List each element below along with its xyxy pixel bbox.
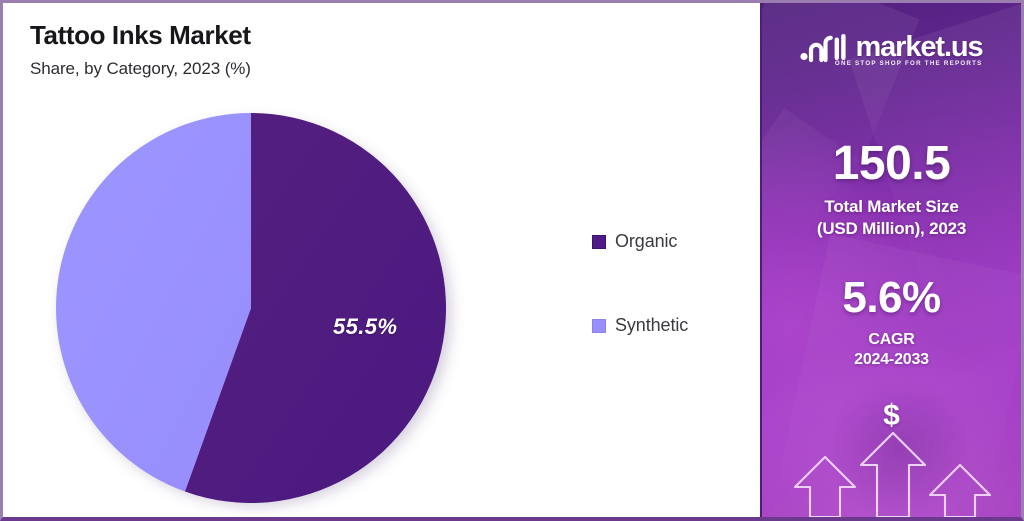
legend-label-organic: Organic [615, 231, 677, 252]
legend-swatch-organic [592, 235, 606, 249]
page-subtitle: Share, by Category, 2023 (%) [30, 59, 251, 79]
arrow-up-icon-right [930, 465, 990, 517]
growth-arrows-art: $ [762, 387, 1021, 517]
stat-value-cagr: 5.6% [762, 275, 1021, 321]
arrow-up-icon-left [795, 457, 855, 517]
logo-wordmark: market.us [855, 33, 982, 62]
arrow-up-icon-center [861, 433, 925, 517]
dollar-icon: $ [762, 401, 1021, 431]
legend-swatch-synthetic [592, 319, 606, 333]
title-block: Tattoo Inks Market Share, by Category, 2… [30, 21, 251, 79]
stat-caption-market-size: Total Market Size (USD Million), 2023 [762, 196, 1021, 239]
stat-total-market-size: 150.5 Total Market Size (USD Million), 2… [762, 139, 1021, 239]
logo-text-block: market.us ONE STOP SHOP FOR THE REPORTS [855, 33, 982, 62]
page-title: Tattoo Inks Market [30, 21, 251, 51]
stats-panel: market.us ONE STOP SHOP FOR THE REPORTS … [760, 3, 1021, 517]
stat-cagr: 5.6% CAGR 2024-2033 [762, 275, 1021, 370]
stat-caption-cagr: CAGR 2024-2033 [762, 330, 1021, 370]
stat-caption-line-1: CAGR [762, 330, 1021, 350]
chart-legend: Organic Synthetic [592, 231, 688, 336]
pie-slice-label-organic: 55.5% [333, 314, 397, 340]
legend-item-synthetic[interactable]: Synthetic [592, 315, 688, 336]
market-us-bars-icon [800, 31, 846, 63]
chart-panel: Tattoo Inks Market Share, by Category, 2… [3, 3, 760, 517]
stat-caption-line-1: Total Market Size [762, 196, 1021, 217]
pie-chart-svg [51, 108, 451, 508]
legend-label-synthetic: Synthetic [615, 315, 688, 336]
infographic-root: Tattoo Inks Market Share, by Category, 2… [0, 0, 1024, 521]
stat-caption-line-2: 2024-2033 [762, 350, 1021, 370]
stat-caption-line-2: (USD Million), 2023 [762, 218, 1021, 239]
logo-tagline: ONE STOP SHOP FOR THE REPORTS [835, 60, 983, 67]
legend-item-organic[interactable]: Organic [592, 231, 688, 252]
pie-chart: 55.5% [51, 108, 451, 508]
stat-value-market-size: 150.5 [762, 139, 1021, 189]
brand-logo[interactable]: market.us ONE STOP SHOP FOR THE REPORTS [762, 31, 1021, 63]
